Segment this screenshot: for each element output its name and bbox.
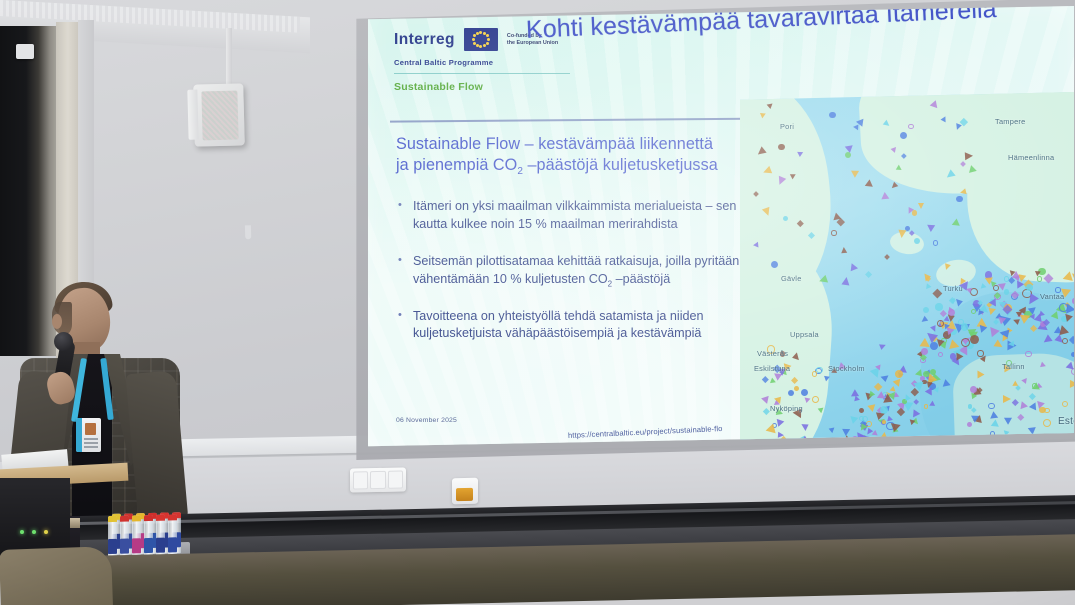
bottle-cap	[132, 515, 141, 521]
map-anchored-vessel	[1062, 401, 1068, 407]
map-anchored-vessel	[961, 338, 970, 347]
map-special-vessel	[865, 271, 872, 278]
water-bottle	[120, 516, 129, 560]
speaker-bracket	[245, 225, 251, 239]
map-vessel-marker	[764, 423, 775, 435]
map-port-dot	[829, 112, 835, 118]
projection-screen-area: Interreg Co-funded by the European Union…	[352, 0, 1075, 468]
slide-bullet-list: Itämeri on yksi maailman vilkkaimmista m…	[396, 198, 764, 347]
map-vessel-marker	[804, 397, 811, 403]
map-vessel-marker	[897, 230, 906, 239]
map-vessel-marker	[920, 316, 928, 324]
map-anchored-vessel	[938, 352, 943, 357]
map-port-dot	[935, 303, 942, 310]
map-vessel-marker	[1012, 271, 1020, 278]
water-bottle	[144, 515, 153, 559]
backpack	[0, 546, 113, 605]
map-vessel-marker	[851, 389, 861, 399]
map-vessel-marker	[959, 188, 966, 195]
badge-text-line	[84, 446, 98, 448]
map-port-dot	[778, 144, 784, 150]
map-port-dot	[956, 196, 962, 202]
map-anchored-vessel	[1037, 276, 1043, 282]
name-badge	[76, 418, 101, 452]
plug-icon	[456, 488, 473, 501]
map-vessel-marker	[841, 428, 849, 435]
speaker-grille-icon	[201, 91, 238, 141]
map-port-dot	[859, 408, 864, 413]
bottle-label	[120, 539, 129, 554]
map-vessel-marker	[940, 117, 945, 123]
bullet-text-a: Itämeri on yksi maailman vilkkaimmista m…	[413, 199, 736, 231]
status-led-icon	[20, 530, 24, 534]
light-switch-key-3[interactable]	[388, 471, 403, 489]
map-anchored-vessel	[988, 403, 994, 409]
map-special-vessel	[932, 289, 942, 299]
bottle-label	[168, 537, 177, 552]
water-bottle	[168, 514, 177, 558]
map-vessel-marker	[767, 103, 774, 109]
map-vessel-marker	[879, 342, 887, 350]
map-vessel-marker	[822, 373, 830, 381]
map-vessel-marker	[845, 142, 856, 153]
water-bottle	[156, 515, 165, 559]
map-vessel-marker	[956, 353, 963, 361]
programme-name: Central Baltic Programme	[394, 58, 590, 67]
map-vessel-marker	[1070, 380, 1074, 388]
eu-star-icon	[476, 44, 479, 47]
map-vessel-marker	[797, 152, 803, 157]
bottle-label	[132, 538, 141, 553]
map-place-label: Gävle	[781, 274, 802, 283]
map-anchored-vessel	[816, 367, 823, 374]
map-vessel-marker	[881, 192, 890, 200]
status-led-icon	[44, 530, 48, 534]
eu-star-icon	[479, 31, 482, 34]
map-vessel-marker	[841, 246, 847, 252]
subheading-line-2a: ja pienempiä CO	[396, 156, 517, 174]
map-anchored-vessel	[831, 230, 837, 236]
map-place-label: Turku	[943, 284, 963, 293]
map-port-dot	[912, 210, 918, 216]
map-vessel-marker	[864, 180, 874, 190]
projected-slide: Interreg Co-funded by the European Union…	[368, 6, 1074, 448]
slide-bullet-item: Itämeri on yksi maailman vilkkaimmista m…	[396, 198, 764, 238]
logo-divider	[394, 73, 570, 74]
slide-bullet-item: Seitsemän pilottisatamaa kehittää ratkai…	[396, 253, 764, 293]
map-vessel-marker	[950, 219, 960, 229]
map-vessel-marker	[847, 413, 858, 424]
wall-speaker	[193, 83, 245, 146]
map-landmass	[889, 230, 926, 257]
eu-flag-icon	[464, 28, 498, 51]
speaker-side-panel	[187, 90, 198, 140]
eu-star-icon	[472, 38, 475, 41]
light-switch-key-2[interactable]	[370, 471, 385, 489]
map-vessel-marker	[977, 371, 984, 379]
eu-star-icon	[479, 45, 482, 48]
bullet-text-b: –päästöjä	[612, 272, 670, 286]
map-vessel-marker	[848, 262, 858, 272]
map-port-dot	[845, 152, 851, 158]
map-port-dot	[1026, 284, 1033, 291]
map-anchored-vessel	[977, 350, 983, 356]
map-vessel-marker	[1030, 314, 1035, 320]
map-port-dot	[1004, 289, 1009, 294]
map-special-vessel	[885, 254, 891, 260]
slide-subheading: Sustainable Flow – kestävämpää liikennet…	[396, 134, 764, 182]
map-anchored-vessel	[1043, 419, 1051, 427]
map-vessel-marker	[927, 225, 935, 232]
subheading-line-2b: –päästöjä kuljetusketjussa	[523, 156, 718, 174]
map-vessel-marker	[849, 167, 859, 177]
bullet-text-a: Tavoitteena on yhteistyöllä tehdä satami…	[413, 309, 704, 341]
map-vessel-marker	[918, 203, 924, 209]
map-vessel-marker	[889, 423, 900, 433]
bottle-label	[144, 538, 153, 553]
map-place-label: Hämeenlinna	[1008, 153, 1054, 162]
map-vessel-marker	[979, 283, 986, 289]
map-place-label: Estonia	[1058, 416, 1074, 427]
baltic-vessel-traffic-map: PoriTampereHämeenlinnaTurkuVantaaGävleUp…	[740, 92, 1074, 444]
badge-color-strip	[76, 418, 82, 452]
water-bottle	[108, 516, 117, 560]
map-special-vessel	[925, 276, 931, 282]
light-switch-plate[interactable]	[350, 467, 406, 492]
map-place-label: Pori	[780, 122, 794, 131]
map-port-dot	[970, 335, 979, 344]
bottle-cap	[144, 515, 153, 521]
map-vessel-marker	[881, 375, 890, 382]
subheading-line-1: Sustainable Flow – kestävämpää liikennet…	[396, 135, 713, 153]
map-vessel-marker	[827, 426, 834, 433]
bottle-cap	[156, 515, 165, 521]
map-place-label: Stockholm	[828, 364, 865, 373]
slide-bullet-item: Tavoitteena on yhteistyöllä tehdä satami…	[396, 308, 764, 348]
door-sensor-icon	[16, 44, 34, 59]
map-port-dot	[1071, 352, 1074, 357]
interreg-wordmark: Interreg	[394, 31, 455, 49]
map-place-label: Uppsala	[790, 330, 819, 339]
eu-star-icon	[486, 34, 489, 37]
map-anchored-vessel	[1062, 338, 1068, 344]
eu-star-icon	[483, 44, 486, 47]
map-place-label: Västerås	[757, 349, 788, 358]
water-bottle	[132, 515, 141, 559]
bottle-cap	[168, 514, 177, 520]
map-place-label: Eskilstuna	[754, 364, 790, 373]
map-port-dot	[923, 307, 929, 313]
map-vessel-marker	[956, 297, 964, 306]
badge-text-line	[84, 442, 98, 444]
bottle-cap	[108, 516, 117, 522]
light-switch-key-1[interactable]	[353, 471, 368, 489]
eu-star-icon	[476, 32, 479, 35]
map-port-dot	[794, 386, 799, 391]
bottle-label	[108, 539, 117, 554]
map-place-label: Tampere	[995, 117, 1026, 126]
map-place-label: Vantaa	[1040, 292, 1064, 301]
map-vessel-marker	[1008, 341, 1014, 347]
slide-date: 06 November 2025	[396, 417, 457, 424]
av-equipment-cabinet	[0, 478, 70, 558]
map-vessel-marker	[1003, 395, 1011, 403]
eu-star-icon	[473, 42, 476, 45]
bottle-cap	[120, 516, 129, 522]
map-vessel-marker	[926, 283, 932, 290]
project-name: Sustainable Flow	[394, 81, 590, 93]
map-port-dot	[895, 370, 903, 378]
presenter-ear	[52, 314, 62, 329]
eu-star-icon	[486, 42, 489, 45]
map-anchored-vessel	[933, 240, 938, 245]
badge-photo	[85, 423, 96, 435]
status-led-icon	[32, 530, 36, 534]
map-anchored-vessel	[1044, 408, 1049, 413]
map-vessel-marker	[965, 151, 973, 159]
map-special-vessel	[913, 399, 919, 405]
eu-star-icon	[473, 34, 476, 37]
map-place-label: Tallinn	[1002, 362, 1025, 371]
map-vessel-marker	[818, 275, 828, 285]
bottle-label	[156, 538, 165, 553]
slide-body-column: Sustainable Flow – kestävämpää liikennet…	[396, 134, 764, 362]
map-place-label: Nyköping	[770, 404, 803, 413]
bullet-text-a: Seitsemän pilottisatamaa kehittää ratkai…	[413, 254, 739, 286]
map-vessel-marker	[949, 297, 955, 304]
badge-text-line	[84, 438, 98, 440]
wall-power-socket[interactable]	[452, 478, 478, 504]
speaker-mount-pole	[226, 28, 232, 86]
eu-star-icon	[487, 38, 490, 41]
room-photo-scene: Interreg Co-funded by the European Union…	[0, 0, 1075, 605]
map-vessel-marker	[842, 276, 851, 285]
